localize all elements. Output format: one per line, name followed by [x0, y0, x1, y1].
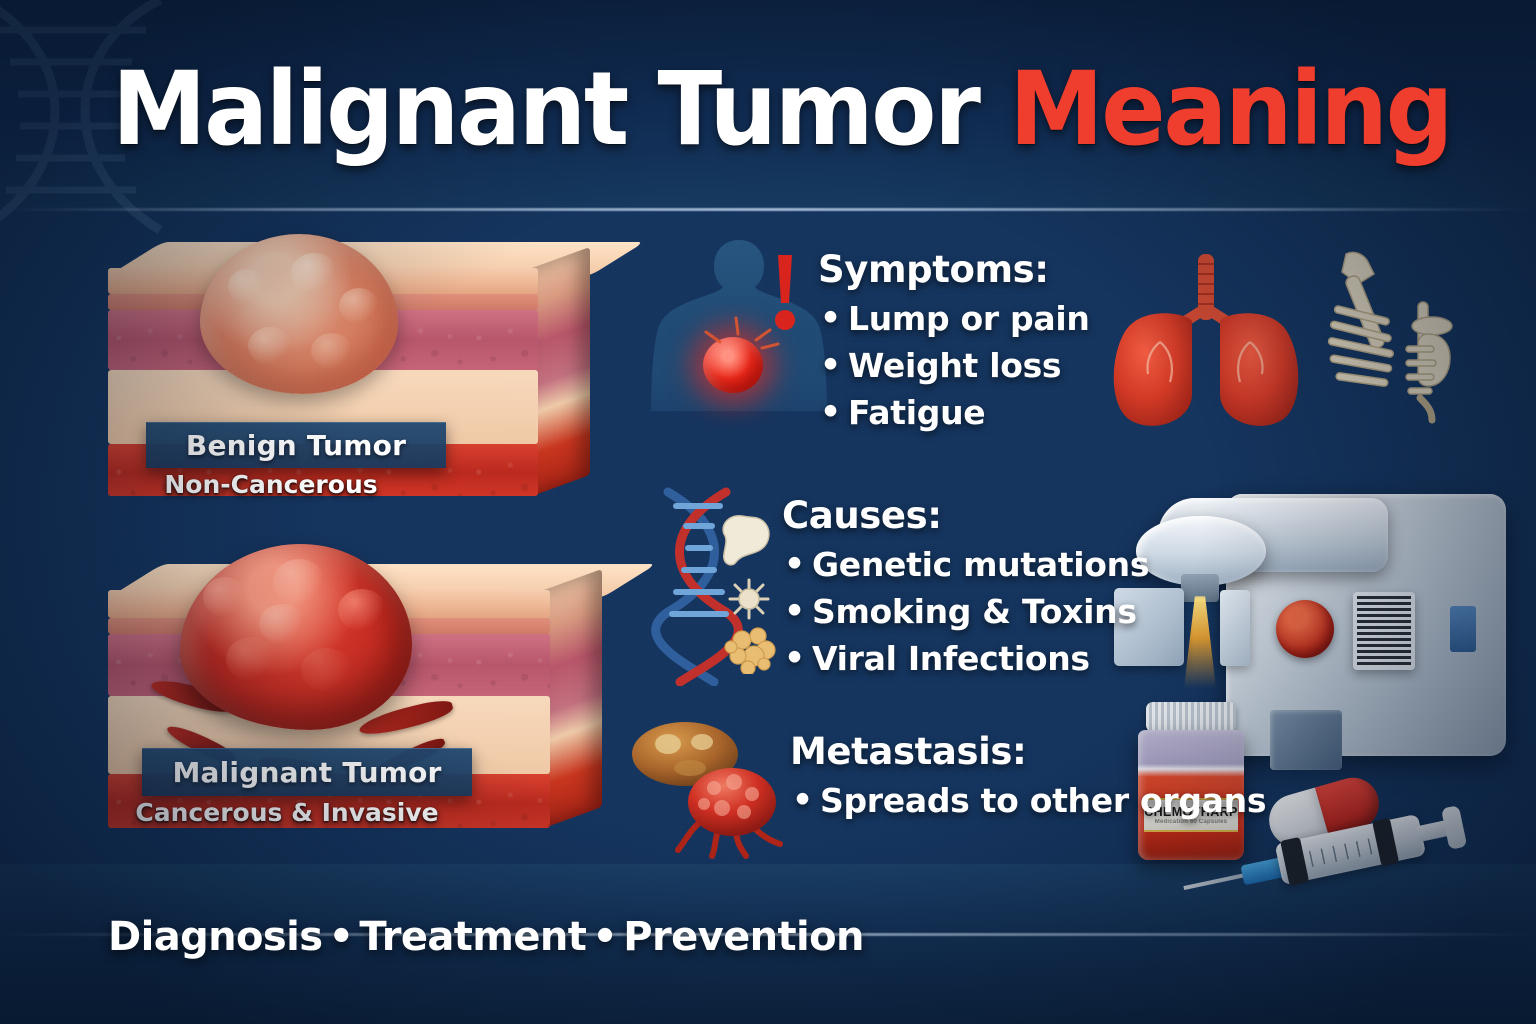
list-item: Lump or pain — [818, 295, 1090, 342]
symptoms-list: Lump or pain Weight loss Fatigue — [818, 295, 1090, 437]
section-causes: Causes: Genetic mutations Smoking & Toxi… — [782, 494, 1149, 683]
list-item: Genetic mutations — [782, 541, 1149, 588]
benign-sublabel-text: Non-Cancerous — [164, 470, 377, 499]
benign-label-box: Benign Tumor — [146, 422, 446, 468]
symptoms-heading: Symptoms: — [818, 248, 1090, 291]
radiation-beam-icon — [1184, 596, 1216, 688]
malignant-tumor-diagram: Malignant Tumor Cancerous & Invasive — [108, 590, 550, 828]
benign-sublabel: Non-Cancerous — [56, 470, 486, 499]
machine-right-panel — [1220, 590, 1250, 666]
cell-cluster-icon — [724, 624, 780, 674]
list-item: Smoking & Toxins — [782, 588, 1149, 635]
malignant-label-box: Malignant Tumor — [142, 748, 472, 796]
machine-display-blue — [1450, 606, 1476, 652]
malignant-sublabel: Cancerous & Invasive — [66, 798, 508, 827]
tissue-side-face-2 — [544, 569, 602, 828]
footer-separator: • — [586, 914, 623, 960]
benign-tumor-diagram: Benign Tumor Non-Cancerous — [108, 268, 538, 496]
page-title: Malignant Tumor Meaning — [112, 58, 1451, 162]
page-title-primary: Malignant Tumor — [112, 50, 1009, 169]
skeleton-ribcage-icon — [1300, 248, 1468, 428]
page-title-accent: Meaning — [1009, 50, 1451, 169]
metastasis-list: Spreads to other organs — [790, 777, 1266, 824]
lungs-icon — [1100, 250, 1310, 430]
bottle-cap — [1146, 702, 1236, 732]
machine-lower-panel — [1270, 710, 1342, 770]
machine-vent-grille — [1353, 592, 1415, 670]
malignant-label-text: Malignant Tumor — [172, 756, 441, 789]
causes-heading: Causes: — [782, 494, 1149, 537]
benign-label-text: Benign Tumor — [186, 429, 406, 462]
malignant-sublabel-text: Cancerous & Invasive — [135, 798, 438, 827]
footer-item-treatment: Treatment — [359, 914, 586, 960]
list-item: Viral Infections — [782, 635, 1149, 682]
list-item: Fatigue — [818, 389, 1090, 436]
section-metastasis: Metastasis: Spreads to other organs — [790, 730, 1266, 824]
footer-item-prevention: Prevention — [623, 914, 864, 960]
footer-separator: • — [322, 914, 359, 960]
list-item: Spreads to other organs — [790, 777, 1266, 824]
smoke-puff-icon — [712, 512, 774, 568]
footer-item-diagnosis: Diagnosis — [108, 914, 322, 960]
exclamation-mark-icon — [770, 253, 800, 331]
causes-list: Genetic mutations Smoking & Toxins Viral… — [782, 541, 1149, 683]
section-symptoms: Symptoms: Lump or pain Weight loss Fatig… — [818, 248, 1090, 437]
metastasis-heading: Metastasis: — [790, 730, 1266, 773]
tissue-side-face — [532, 247, 590, 496]
virus-icon — [728, 578, 770, 620]
machine-red-port-icon — [1276, 600, 1334, 658]
infographic-poster: Malignant Tumor Meaning Benign T — [0, 0, 1536, 1024]
syringe-plunger-flange — [1441, 805, 1467, 850]
list-item: Weight loss — [818, 342, 1090, 389]
metastatic-tumor-cell-icon — [672, 760, 794, 860]
footer-tagline: Diagnosis•Treatment•Prevention — [108, 914, 864, 960]
